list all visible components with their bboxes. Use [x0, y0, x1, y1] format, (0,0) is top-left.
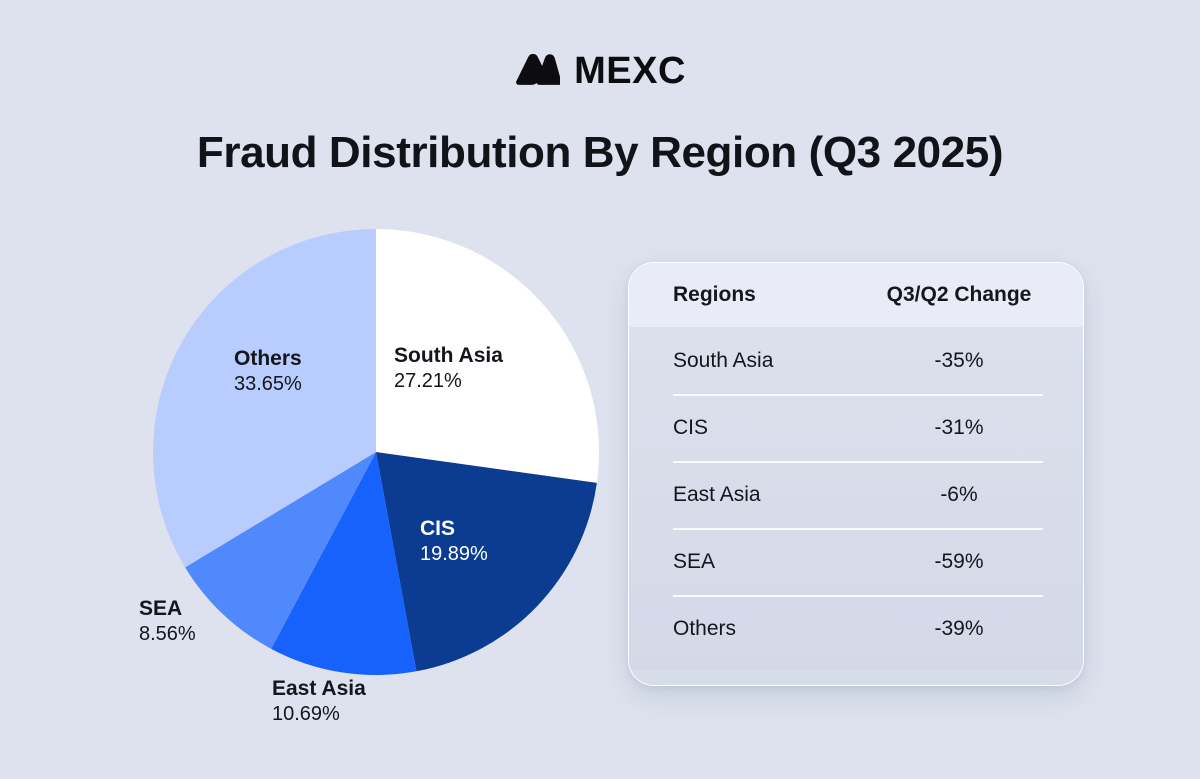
table-cell-change: -31% — [875, 416, 1043, 440]
table-cell-region: East Asia — [673, 483, 875, 507]
table-cell-change: -35% — [875, 349, 1043, 373]
pie-label-east-asia-value: 10.69% — [272, 702, 366, 727]
brand-logo: MEXC — [0, 52, 1200, 90]
pie-chart-svg — [152, 228, 600, 676]
mexc-logo-icon — [514, 53, 560, 90]
pie-label-east-asia: East Asia 10.69% — [272, 676, 366, 727]
pie-label-east-asia-name: East Asia — [272, 676, 366, 702]
table-cell-change: -39% — [875, 617, 1043, 641]
pie-slice-south-asia — [376, 229, 599, 483]
table-header-row: Regions Q3/Q2 Change — [629, 263, 1083, 327]
table-header-regions: Regions — [673, 283, 875, 307]
regions-change-table: Regions Q3/Q2 Change South Asia-35%CIS-3… — [628, 262, 1084, 686]
pie-slice-group — [153, 229, 599, 675]
page-title: Fraud Distribution By Region (Q3 2025) — [0, 128, 1200, 179]
table-row: SEA-59% — [629, 528, 1083, 595]
table-row: East Asia-6% — [629, 461, 1083, 528]
table-cell-change: -6% — [875, 483, 1043, 507]
table-cell-region: CIS — [673, 416, 875, 440]
table-row: CIS-31% — [629, 394, 1083, 461]
table-cell-region: SEA — [673, 550, 875, 574]
table-row: Others-39% — [629, 595, 1083, 662]
pie-chart: South Asia 27.21% CIS 19.89% East Asia 1… — [152, 228, 600, 676]
table-cell-region: Others — [673, 617, 875, 641]
brand-wordmark: MEXC — [574, 52, 686, 90]
table-body: South Asia-35%CIS-31%East Asia-6%SEA-59%… — [629, 327, 1083, 670]
table-row: South Asia-35% — [629, 327, 1083, 394]
table-header-change: Q3/Q2 Change — [875, 283, 1043, 307]
table-cell-region: South Asia — [673, 349, 875, 373]
table-cell-change: -59% — [875, 550, 1043, 574]
